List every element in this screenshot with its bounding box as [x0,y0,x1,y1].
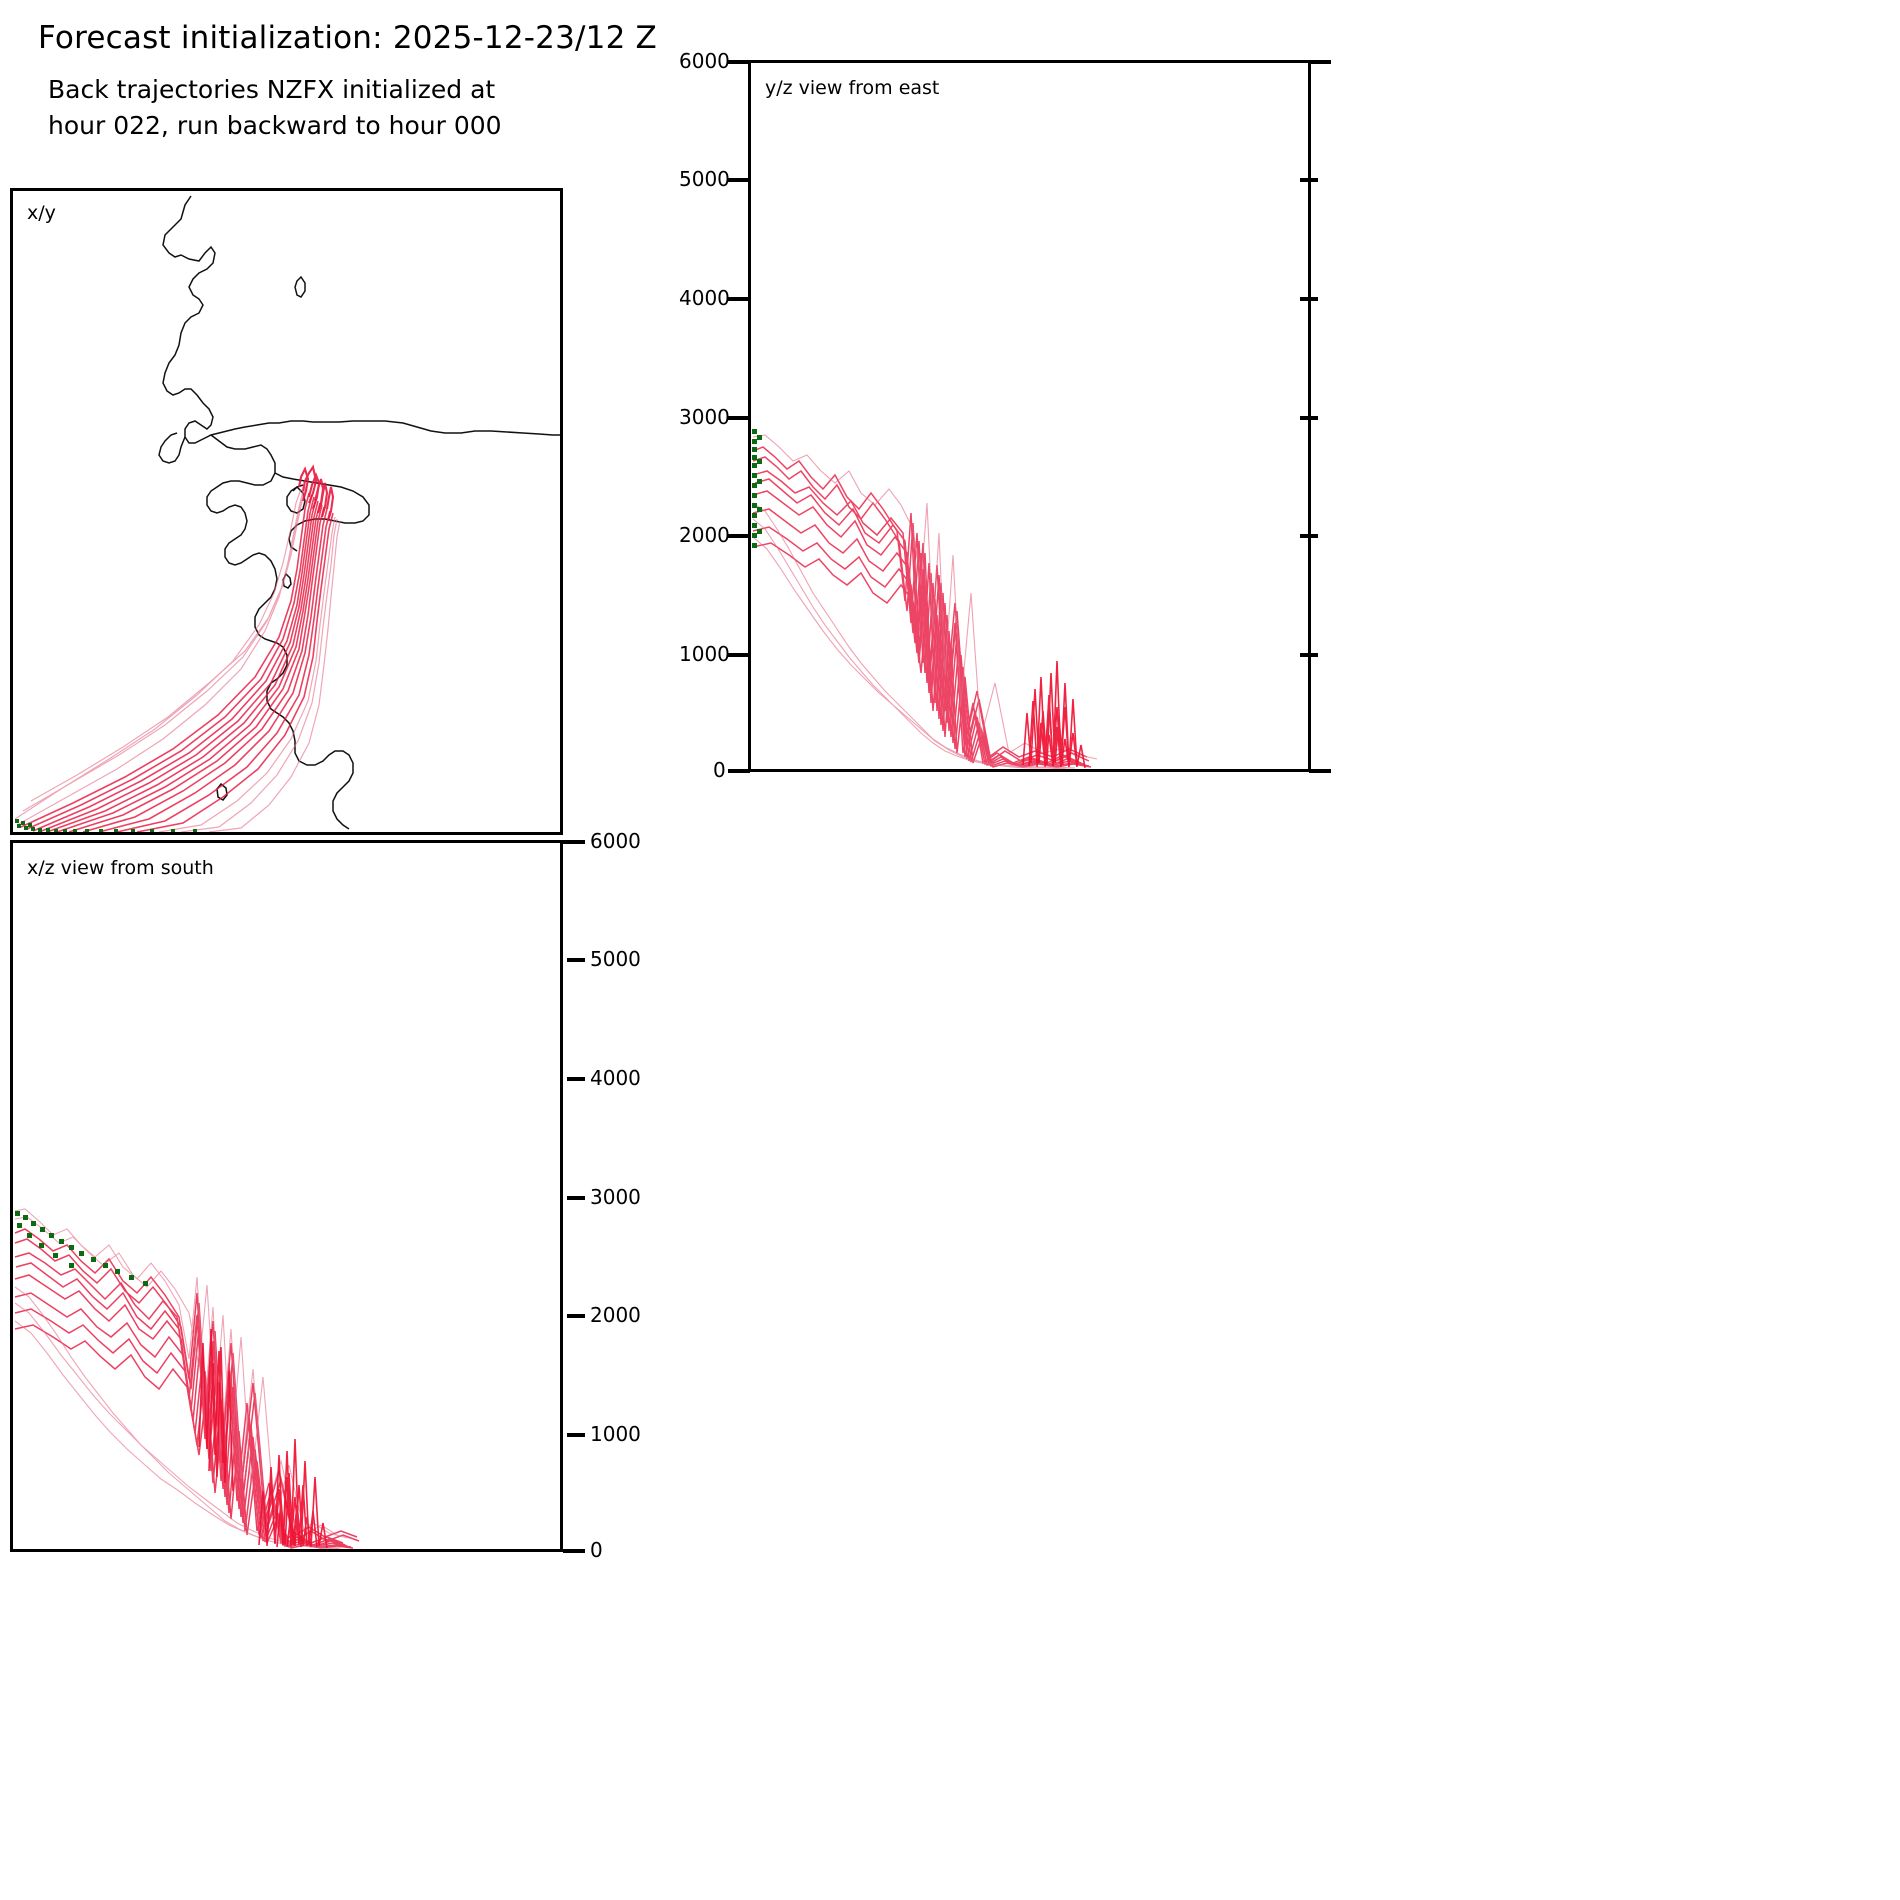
panel-xy[interactable]: x/y [10,188,563,835]
yz-ticklabel-5000: 5000 [679,167,730,191]
xz-plot-area [13,843,560,1549]
yz-tick-1000 [728,653,750,657]
xz-tick-1000 [567,1433,585,1437]
yz-tick-4000 [728,297,750,301]
yz-tick-3000 [728,416,750,420]
yz-right-tick-6000 [1309,60,1331,64]
page-subtitle-line1: Back trajectories NZFX initialized at [48,72,495,108]
xz-tick-6000 [563,840,585,844]
xz-tick-3000 [567,1196,585,1200]
yz-right-tick-2000 [1300,534,1318,538]
yz-tick-0 [728,769,750,773]
yz-tick-5000 [728,178,750,182]
xz-tick-4000 [567,1077,585,1081]
xz-tick-5000 [567,958,585,962]
xz-ticklabel-0: 0 [590,1538,603,1562]
xz-ticklabel-5000: 5000 [590,947,641,971]
yz-right-tick-0 [1309,769,1331,773]
xz-ticklabel-1000: 1000 [590,1422,641,1446]
yz-right-tick-4000 [1300,297,1318,301]
coastline-path [159,196,560,829]
panel-xz[interactable]: x/z view from south [10,840,563,1552]
trajectory-lines-xy [21,493,333,832]
xz-ticklabel-4000: 4000 [590,1066,641,1090]
yz-ticklabel-4000: 4000 [679,286,730,310]
xz-tick-2000 [567,1314,585,1318]
page-subtitle-line2: hour 022, run backward to hour 000 [48,108,502,144]
panel-xz-label: x/z view from south [27,857,214,879]
trajectory-spikes-yz [1023,661,1085,768]
yz-tick-6000 [728,60,750,64]
xz-ticklabel-6000: 6000 [590,829,641,853]
yz-ticklabel-2000: 2000 [679,523,730,547]
xy-plot-area [13,191,560,832]
yz-ticklabel-6000: 6000 [679,49,730,73]
xz-ticklabel-3000: 3000 [590,1185,641,1209]
yz-right-tick-3000 [1300,416,1318,420]
yz-plot-area [751,63,1308,769]
panel-yz-label: y/z view from east [765,77,939,99]
xz-ticklabel-2000: 2000 [590,1303,641,1327]
xz-tick-0 [563,1549,585,1553]
trajectory-lines-yz [753,447,1091,767]
yz-tick-2000 [728,534,750,538]
yz-ticklabel-0: 0 [713,758,726,782]
yz-ticklabel-3000: 3000 [679,405,730,429]
yz-ticklabel-1000: 1000 [679,642,730,666]
panel-yz[interactable]: y/z view from east [748,60,1311,772]
page-title: Forecast initialization: 2025-12-23/12 Z [38,20,657,56]
yz-right-tick-1000 [1300,653,1318,657]
figure-canvas: Forecast initialization: 2025-12-23/12 Z… [0,0,1900,1900]
yz-right-tick-5000 [1300,178,1318,182]
panel-xy-label: x/y [27,202,56,224]
